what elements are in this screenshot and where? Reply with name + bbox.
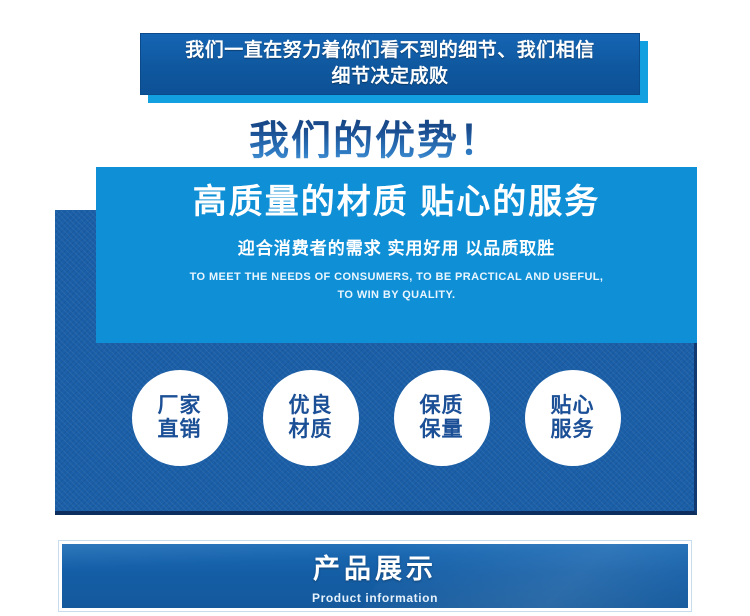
feature-box-english-line2: TO WIN BY QUALITY. (190, 287, 604, 305)
badge-line2: 服务 (551, 418, 595, 441)
product-showcase-subtitle: Product information (312, 591, 438, 605)
badge-line2: 直销 (158, 418, 202, 441)
feature-box-title: 高质量的材质 贴心的服务 (193, 183, 600, 222)
product-detail-banner: 我们一直在努力着你们看不到的细节、我们相信 细节决定成败 我们的优势！ 高质量的… (0, 0, 750, 616)
feature-box: 高质量的材质 贴心的服务 迎合消费者的需求 实用好用 以品质取胜 TO MEET… (96, 167, 697, 343)
top-ribbon-body: 我们一直在努力着你们看不到的细节、我们相信 细节决定成败 (140, 33, 640, 95)
badge-quality-guarantee-label: 保质保量 (420, 394, 464, 441)
badge-quality-material: 优良材质 (263, 370, 359, 466)
product-showcase-title: 产品展示 (313, 547, 437, 586)
badge-quality-material-label: 优良材质 (289, 394, 333, 441)
badge-line1: 保质 (420, 394, 464, 417)
badge-thoughtful-service-label: 贴心服务 (551, 394, 595, 441)
badge-line1: 厂家 (158, 394, 202, 417)
top-ribbon: 我们一直在努力着你们看不到的细节、我们相信 细节决定成败 (140, 33, 640, 95)
top-ribbon-line2: 细节决定成败 (185, 64, 595, 90)
page-title: 我们的优势！ (0, 108, 750, 166)
badge-factory-direct: 厂家直销 (132, 370, 228, 466)
badge-line1: 优良 (289, 394, 333, 417)
product-showcase-banner: 产品展示 Product information (58, 540, 692, 612)
feature-box-english-line1: TO MEET THE NEEDS OF CONSUMERS, TO BE PR… (190, 269, 604, 287)
badge-row: 厂家直销 优良材质 保质保量 贴心服务 (55, 368, 697, 468)
badge-line1: 贴心 (551, 394, 595, 417)
badge-factory-direct-label: 厂家直销 (158, 394, 202, 441)
badge-line2: 材质 (289, 418, 333, 441)
feature-box-subtitle: 迎合消费者的需求 实用好用 以品质取胜 (238, 234, 555, 259)
top-ribbon-line1: 我们一直在努力着你们看不到的细节、我们相信 (185, 38, 595, 64)
feature-box-english: TO MEET THE NEEDS OF CONSUMERS, TO BE PR… (190, 269, 604, 304)
top-ribbon-text: 我们一直在努力着你们看不到的细节、我们相信 细节决定成败 (185, 38, 595, 89)
badge-quality-guarantee: 保质保量 (394, 370, 490, 466)
product-showcase-bar: 产品展示 Product information (62, 544, 688, 608)
badge-line2: 保量 (420, 418, 464, 441)
badge-thoughtful-service: 贴心服务 (525, 370, 621, 466)
